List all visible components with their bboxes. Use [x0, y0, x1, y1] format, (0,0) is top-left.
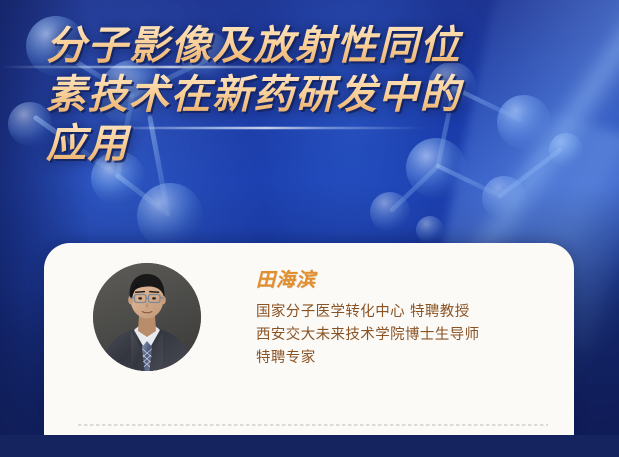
poster-bottom-band	[0, 435, 619, 457]
portrait-photo-icon	[93, 263, 201, 371]
title-line-2: 素技术在新药研发中的	[46, 71, 586, 120]
title-line-1: 分子影像及放射性同位	[46, 22, 586, 71]
speaker-info-card: 田海滨 国家分子医学转化中心 特聘教授 西安交大未来技术学院博士生导师 特聘专家	[44, 243, 574, 435]
avatar	[93, 263, 201, 371]
poster-title: 分子影像及放射性同位 素技术在新药研发中的 应用	[46, 22, 586, 169]
presentation-title-poster: 分子影像及放射性同位 素技术在新药研发中的 应用	[0, 0, 619, 457]
speaker-name: 田海滨	[256, 265, 562, 292]
speaker-credential-1: 国家分子医学转化中心 特聘教授	[256, 301, 562, 324]
dotted-divider-icon	[78, 424, 548, 426]
speaker-credential-3: 特聘专家	[256, 347, 562, 370]
speaker-credential-2: 西安交大未来技术学院博士生导师	[256, 324, 562, 347]
speaker-details: 田海滨 国家分子医学转化中心 特聘教授 西安交大未来技术学院博士生导师 特聘专家	[256, 265, 562, 370]
title-line-3: 应用	[46, 120, 586, 169]
